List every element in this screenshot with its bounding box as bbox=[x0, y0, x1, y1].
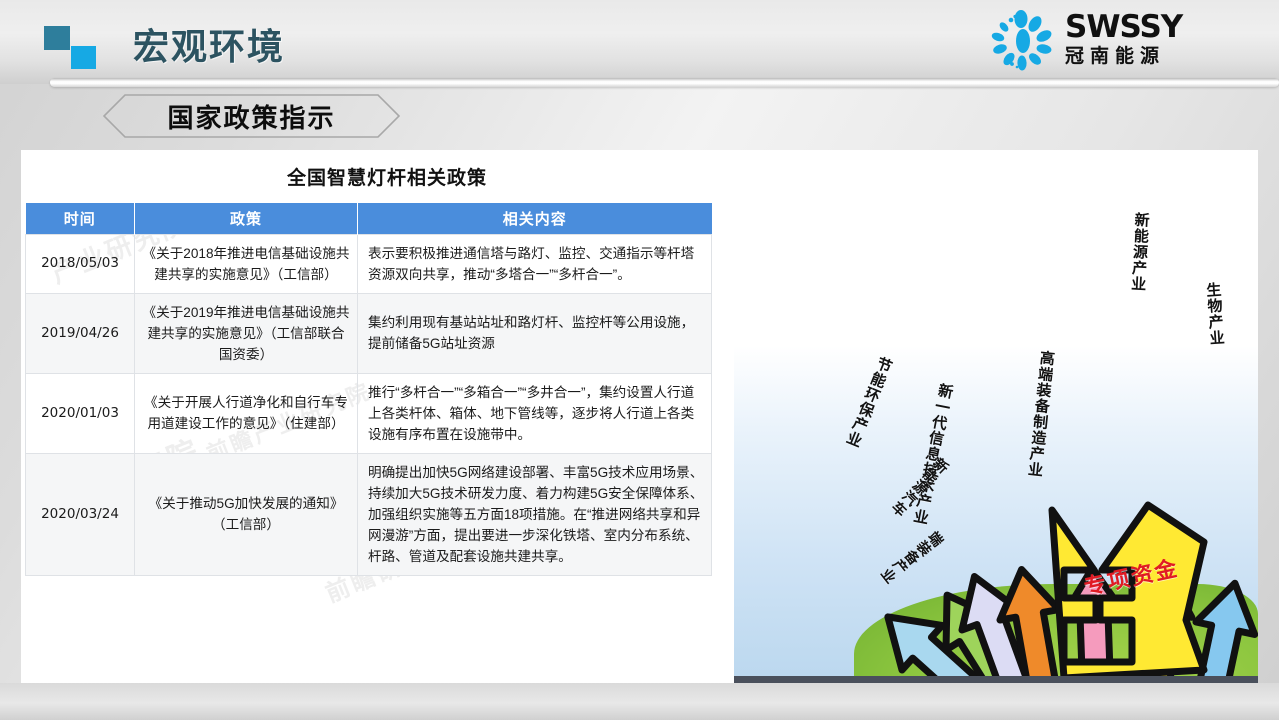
brand-wordmark: SWSSY bbox=[1065, 10, 1255, 44]
column-header-date: 时间 bbox=[26, 203, 135, 234]
brand-logo: SWSSY 冠南能源 bbox=[987, 8, 1257, 74]
cell-content: 明确提出加快5G网络建设部署、丰富5G技术应用场景、持续加大5G技术研发力度、着… bbox=[358, 453, 712, 575]
slide-header: 宏观环境 SWSSY 冠南能源 bbox=[0, 0, 1279, 84]
arrow-group bbox=[734, 150, 1258, 683]
policy-table: 时间 政策 相关内容 2018/05/03 《关于2018年推进电信基础设施共建… bbox=[25, 203, 712, 576]
section-banner-label: 国家政策指示 bbox=[103, 94, 400, 138]
cell-date: 2020/03/24 bbox=[26, 453, 135, 575]
square-light bbox=[71, 46, 96, 69]
industry-arrows-illustration: 新一代信息技术产业 高端装备制造产业 新能源产业 生物产业 节能环保产业 新能源… bbox=[734, 150, 1258, 683]
cell-policy: 《关于2019年推进电信基础设施共建共享的实施意见》（工信部联合国资委） bbox=[135, 293, 358, 373]
table-row: 2020/03/24 《关于推动5G加快发展的通知》（工信部） 明确提出加快5G… bbox=[26, 453, 712, 575]
cell-date: 2018/05/03 bbox=[26, 234, 135, 293]
two-squares-icon bbox=[44, 26, 102, 68]
cell-policy: 《关于开展人行道净化和自行车专用道建设工作的意见》（住建部） bbox=[135, 373, 358, 453]
page-title: 宏观环境 bbox=[133, 18, 285, 70]
cell-content: 推行“多杆合一”“多箱合一”“多井合一”，集约设置人行道上各类杆体、箱体、地下管… bbox=[358, 373, 712, 453]
square-dark bbox=[44, 26, 70, 50]
cell-policy: 《关于推动5G加快发展的通知》（工信部） bbox=[135, 453, 358, 575]
cell-date: 2020/01/03 bbox=[26, 373, 135, 453]
table-title: 全国智慧灯杆相关政策 bbox=[46, 163, 728, 190]
content-panel: 全国智慧灯杆相关政策 产业研究院 前瞻产业研究院 产业研究院 前瞻研究院 时间 … bbox=[21, 150, 1258, 683]
table-row: 2020/01/03 《关于开展人行道净化和自行车专用道建设工作的意见》（住建部… bbox=[26, 373, 712, 453]
column-header-content: 相关内容 bbox=[358, 203, 712, 234]
footer-strip bbox=[0, 683, 1279, 720]
table-header-row: 时间 政策 相关内容 bbox=[26, 203, 712, 234]
cell-content: 集约利用现有基站站址和路灯杆、监控杆等公用设施，提前储备5G站址资源 bbox=[358, 293, 712, 373]
column-header-policy: 政策 bbox=[135, 203, 358, 234]
table-row: 2019/04/26 《关于2019年推进电信基础设施共建共享的实施意见》（工信… bbox=[26, 293, 712, 373]
cell-policy: 《关于2018年推进电信基础设施共建共享的实施意见》（工信部） bbox=[135, 234, 358, 293]
cell-content: 表示要积极推进通信塔与路灯、监控、交通指示等杆塔资源双向共享，推动“多塔合一”“… bbox=[358, 234, 712, 293]
header-divider bbox=[50, 78, 1279, 87]
arrow-label-3: 新能源产业 bbox=[1127, 212, 1152, 293]
arrow-label-4: 生物产业 bbox=[1202, 281, 1227, 346]
cell-date: 2019/04/26 bbox=[26, 293, 135, 373]
table-row: 2018/05/03 《关于2018年推进电信基础设施共建共享的实施意见》（工信… bbox=[26, 234, 712, 293]
brand-subtitle: 冠南能源 bbox=[1065, 44, 1255, 70]
water-droplet-circle-icon bbox=[987, 10, 1055, 72]
section-banner: 国家政策指示 bbox=[103, 94, 400, 138]
